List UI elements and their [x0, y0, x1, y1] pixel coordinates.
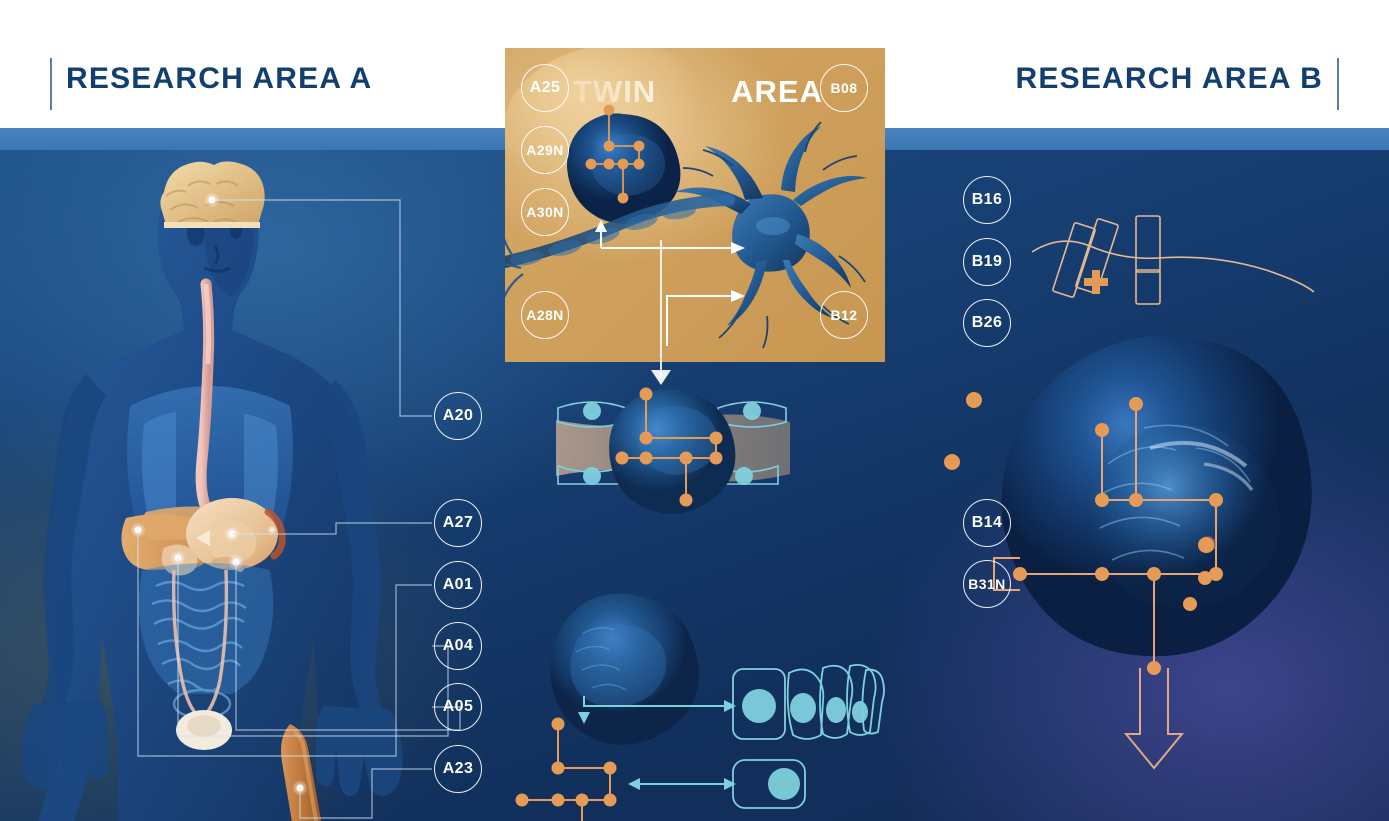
page-title-research-area-a: RESEARCH AREA A — [66, 62, 372, 96]
twin-area-output-arrowhead — [651, 370, 671, 385]
badge-b31n-label: B31N — [968, 576, 1005, 592]
badge-a23-label: A23 — [443, 760, 474, 778]
badge-a30n-label: A30N — [526, 204, 563, 220]
badge-a23[interactable]: A23 — [434, 745, 482, 793]
badge-a27-label: A27 — [443, 514, 474, 532]
badge-a28n-label: A28N — [526, 307, 563, 323]
infographic-root: RESEARCH AREA A RESEARCH AREA B — [0, 0, 1389, 821]
badge-b31n[interactable]: B31N — [963, 560, 1011, 608]
badge-a05-label: A05 — [443, 698, 474, 716]
badge-a29n-label: A29N — [526, 142, 563, 158]
twin-area-panel: TWIN AREA — [505, 48, 885, 362]
badge-b19-label: B19 — [972, 253, 1003, 271]
twin-area-output-connector — [660, 240, 662, 378]
badge-a25-label: A25 — [530, 79, 561, 97]
badge-a04[interactable]: A04 — [434, 622, 482, 670]
title-rule-left — [50, 58, 52, 110]
badge-b26-label: B26 — [972, 314, 1003, 332]
badge-b08-label: B08 — [831, 80, 858, 96]
badge-b14-label: B14 — [972, 514, 1003, 532]
badge-b16-label: B16 — [972, 191, 1003, 209]
badge-a25[interactable]: A25 — [521, 64, 569, 112]
badge-a20[interactable]: A20 — [434, 392, 482, 440]
title-rule-right — [1337, 58, 1339, 110]
page-title-research-area-b: RESEARCH AREA B — [1016, 62, 1323, 96]
badge-a01-label: A01 — [443, 576, 474, 594]
badge-b14[interactable]: B14 — [963, 499, 1011, 547]
badge-a27[interactable]: A27 — [434, 499, 482, 547]
badge-a20-label: A20 — [443, 407, 474, 425]
badge-b19[interactable]: B19 — [963, 238, 1011, 286]
badge-a04-label: A04 — [443, 637, 474, 655]
badge-a30n[interactable]: A30N — [521, 188, 569, 236]
badge-a05[interactable]: A05 — [434, 683, 482, 731]
badge-b16[interactable]: B16 — [963, 176, 1011, 224]
badge-a29n[interactable]: A29N — [521, 126, 569, 174]
badge-b12[interactable]: B12 — [820, 291, 868, 339]
badge-b08[interactable]: B08 — [820, 64, 868, 112]
badge-b12-label: B12 — [831, 307, 858, 323]
badge-a01[interactable]: A01 — [434, 561, 482, 609]
badge-b26[interactable]: B26 — [963, 299, 1011, 347]
badge-a28n[interactable]: A28N — [521, 291, 569, 339]
